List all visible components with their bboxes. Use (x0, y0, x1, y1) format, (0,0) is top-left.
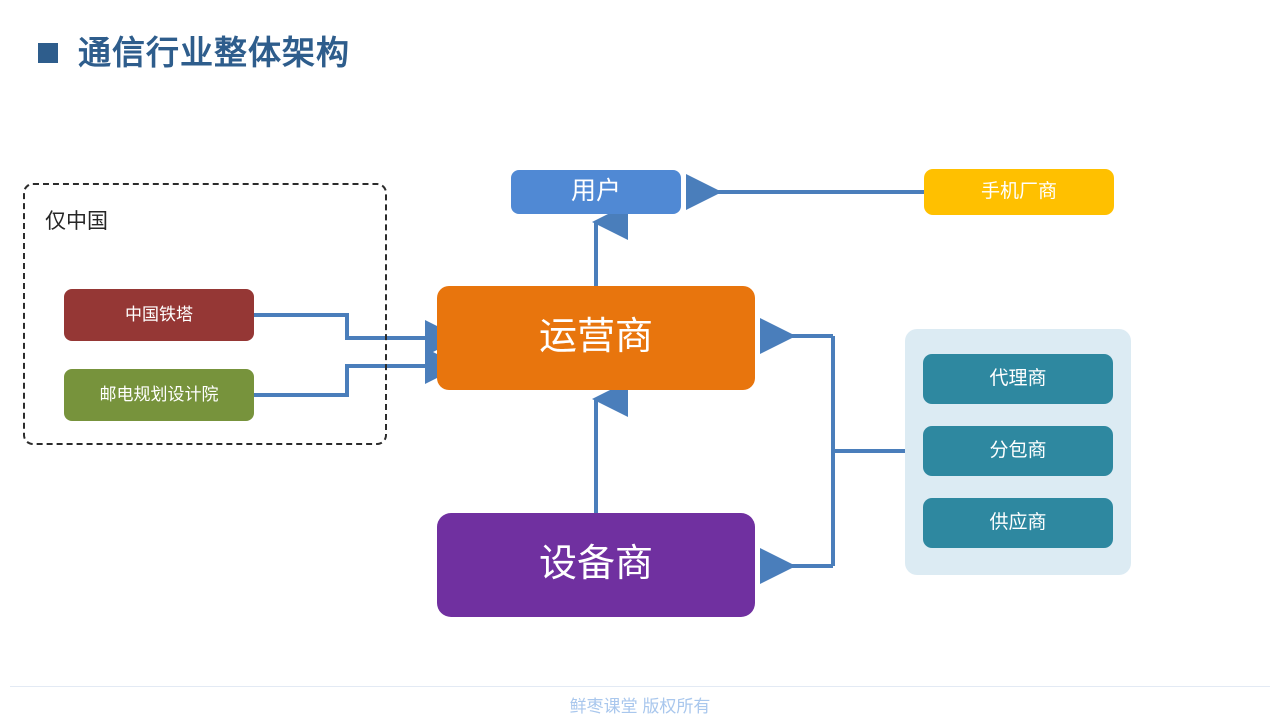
node-user[interactable]: 用户 (511, 170, 681, 214)
node-operator[interactable]: 运营商 (437, 286, 755, 390)
node-design-institute[interactable]: 邮电规划设计院 (64, 369, 254, 421)
architecture-diagram: 仅中国 中国铁塔 邮电规划设计院 用户 运营商 设备商 手机厂商 代理商 分包商… (0, 0, 1280, 680)
node-china-tower[interactable]: 中国铁塔 (64, 289, 254, 341)
node-supplier[interactable]: 供应商 (923, 498, 1113, 548)
footer-copyright: 鲜枣课堂 版权所有 (0, 692, 1280, 717)
footer-divider (10, 686, 1270, 687)
china-only-group-label: 仅中国 (45, 205, 108, 235)
node-subcontractor[interactable]: 分包商 (923, 426, 1113, 476)
node-phone-manufacturer[interactable]: 手机厂商 (924, 169, 1114, 215)
node-agent[interactable]: 代理商 (923, 354, 1113, 404)
node-equipment-vendor[interactable]: 设备商 (437, 513, 755, 617)
